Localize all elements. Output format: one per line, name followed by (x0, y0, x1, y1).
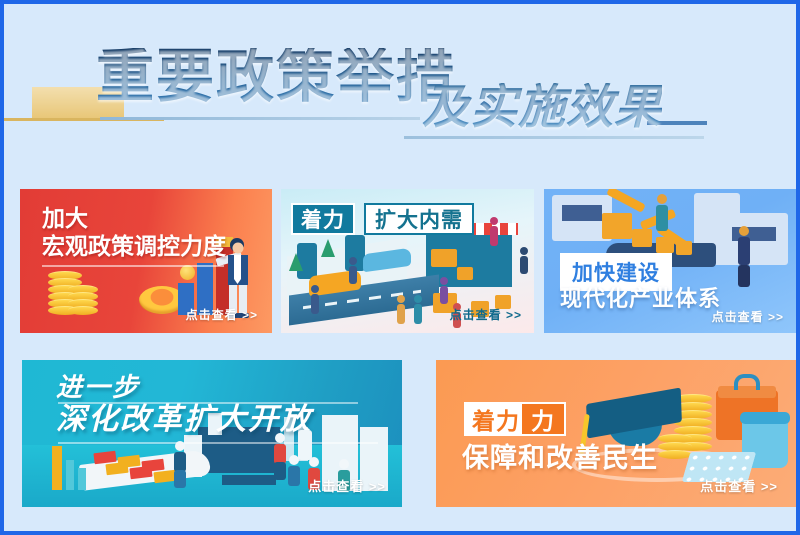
card3-title-line2: 现代化产业体系 (560, 287, 721, 311)
briefcase-handle (734, 374, 760, 390)
card5-title-badge: 着力 (464, 402, 528, 436)
coin-stack-small-icon (658, 434, 692, 460)
card2-title-line2: 扩大内需 (375, 204, 463, 234)
card-modern-industrial-system[interactable]: 加快建设 现代化产业体系 点击查看 >> (544, 189, 796, 333)
card1-cta-link[interactable]: 点击查看 >> (186, 306, 258, 323)
card1-title-line2: 宏观政策调控力度 (42, 234, 226, 259)
title-underline-sub (404, 136, 704, 139)
card-reform-and-opening-up[interactable]: 进一步 深化改革扩大开放 点击查看 >> (22, 360, 402, 507)
card-expand-domestic-demand[interactable]: 着力 扩大内需 点击查看 >> (281, 189, 534, 333)
card2-title-badge: 着力 (291, 203, 355, 235)
card1-title-line1: 加大 (42, 206, 88, 231)
card5-title-line2: 保障和改善民生 (462, 444, 658, 473)
card2-title-box: 扩大内需 (364, 203, 474, 235)
card1-title-underline (42, 265, 224, 267)
card2-cta-link[interactable]: 点击查看 >> (450, 306, 522, 323)
card5-title-line1: 着力 (472, 402, 520, 436)
medicine-jar-lid (740, 412, 790, 424)
coin-icon (180, 265, 195, 280)
title-underline-main (100, 117, 420, 120)
card4-cta-link[interactable]: 点击查看 >> (308, 476, 386, 495)
card2-title-line1: 着力 (301, 204, 345, 234)
page-title: 重要政策举措 (96, 48, 456, 106)
coin-stack-small-icon (68, 285, 98, 317)
card-peoples-livelihood[interactable]: 着力 力 保障和改善民生 点击查看 >> (436, 360, 796, 507)
card5-title-line2-marker: 力 (531, 402, 555, 436)
page-subtitle: 及实施效果 (422, 83, 662, 130)
card5-title-box: 力 (520, 402, 566, 436)
card3-title-line1: 加快建设 (572, 262, 660, 285)
page-header: 重要政策举措 及实施效果 (4, 4, 796, 172)
card3-cta-link[interactable]: 点击查看 >> (712, 308, 784, 325)
card5-cta-link[interactable]: 点击查看 >> (700, 476, 778, 495)
card-macro-policy-regulation[interactable]: 加大 宏观政策调控力度 点击查看 >> (20, 189, 272, 333)
